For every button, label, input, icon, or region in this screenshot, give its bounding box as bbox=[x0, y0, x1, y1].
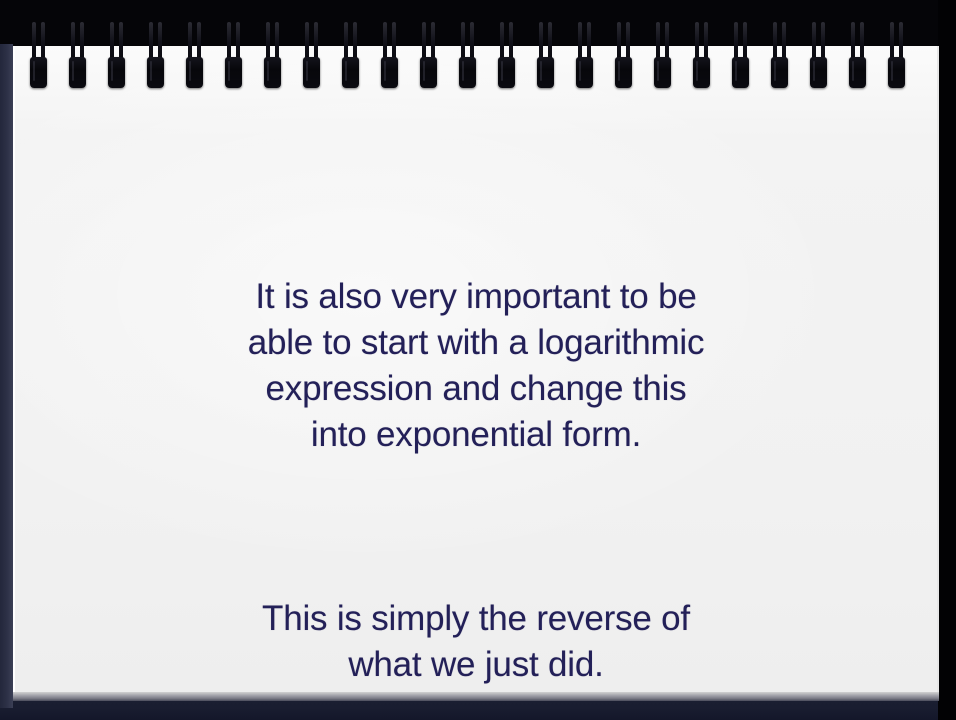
backdrop-top bbox=[0, 0, 956, 52]
paragraph-spacer bbox=[13, 504, 939, 550]
slide-screen: It is also very important to be able to … bbox=[0, 0, 956, 720]
backdrop-right-edge bbox=[938, 0, 956, 720]
note-paragraph-1: It is also very important to be able to … bbox=[13, 274, 939, 458]
note-paragraph-2: This is simply the reverse of what we ju… bbox=[13, 596, 939, 688]
note-text-block: It is also very important to be able to … bbox=[13, 228, 939, 720]
backdrop-left-edge bbox=[0, 44, 13, 708]
